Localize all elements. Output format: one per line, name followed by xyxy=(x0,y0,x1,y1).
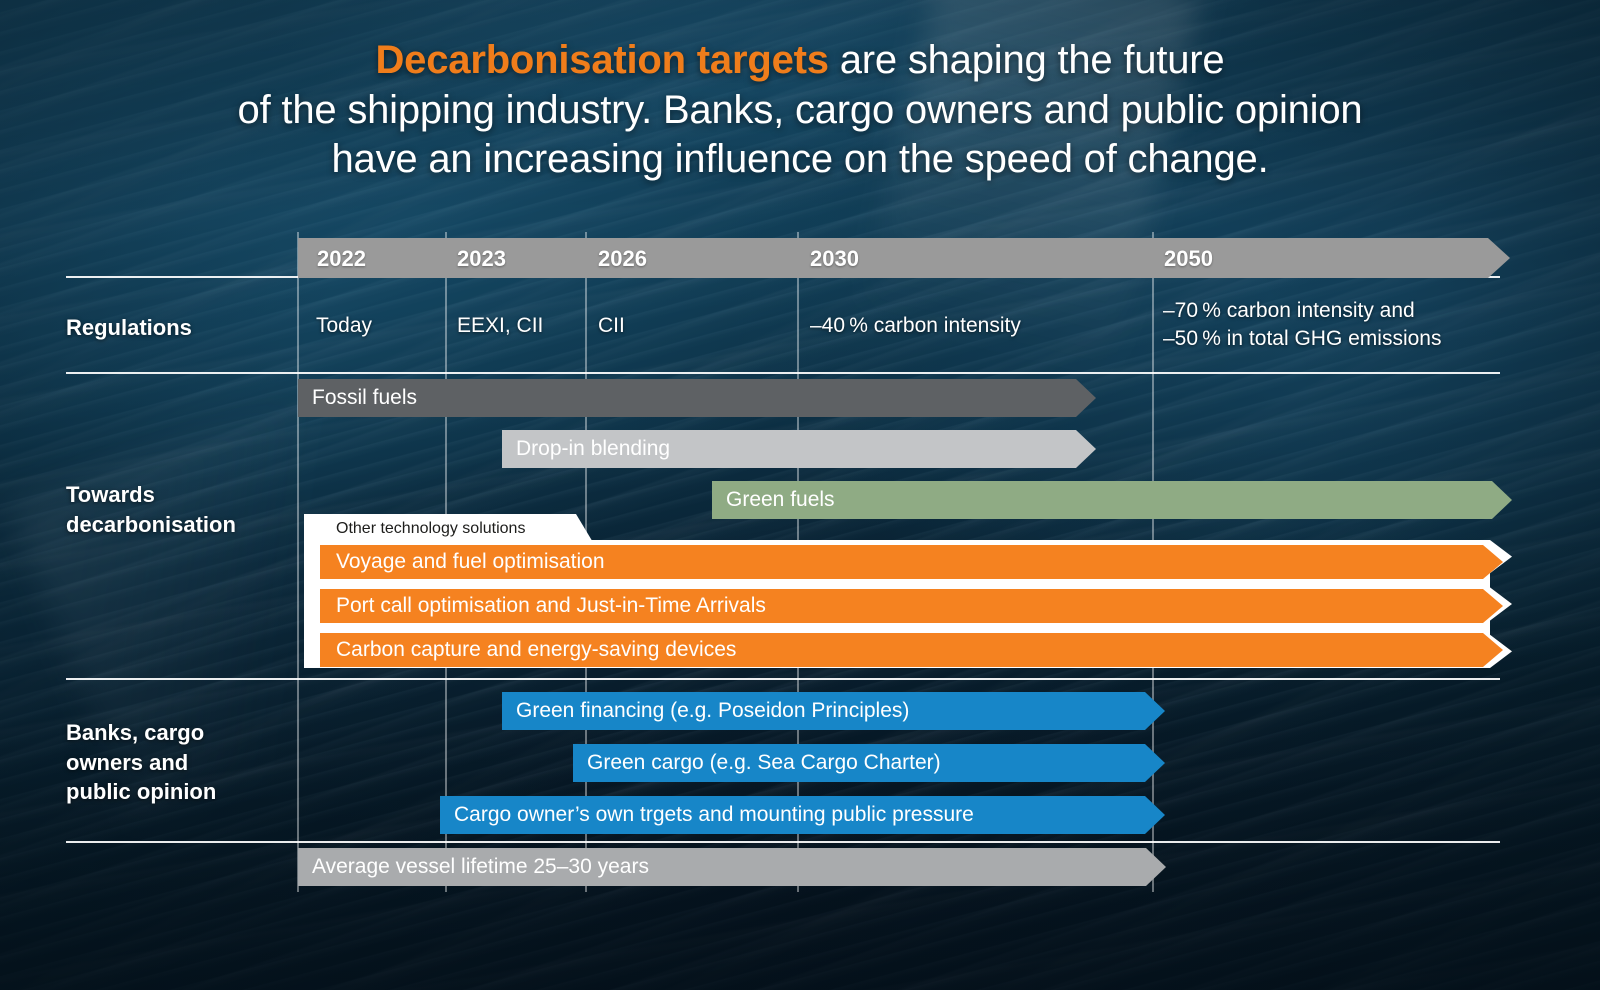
row-label-regulations: Regulations xyxy=(66,313,192,343)
year-label-2023: 2023 xyxy=(457,246,506,272)
regulation-cell-2023: EEXI, CII xyxy=(457,312,543,340)
bar-carbon-capture[interactable]: Carbon capture and energy-saving devices xyxy=(320,633,1503,667)
bar-port-call-optimisation[interactable]: Port call optimisation and Just-in-Time … xyxy=(320,589,1503,623)
gridline-2022 xyxy=(297,232,299,892)
regulation-cell-2026: CII xyxy=(598,312,625,340)
year-label-2026: 2026 xyxy=(598,246,647,272)
other-technology-solutions-tab: Other technology solutions xyxy=(304,514,594,544)
regulation-cell-2050: –70 % carbon intensity and –50 % in tota… xyxy=(1163,297,1442,354)
row-label-decarbonisation-line2: decarbonisation xyxy=(66,510,236,540)
decarbonisation-timeline-chart: 2022 2023 2026 2030 2050 Regulations Tow… xyxy=(0,0,1600,990)
year-label-2050: 2050 xyxy=(1164,246,1213,272)
bar-average-vessel-lifetime[interactable]: Average vessel lifetime 25–30 years xyxy=(298,848,1166,886)
row-label-decarbonisation: Towards decarbonisation xyxy=(66,480,236,539)
regulation-cell-2050-line1: –70 % carbon intensity and xyxy=(1163,297,1442,325)
year-label-2022: 2022 xyxy=(317,246,366,272)
separator-below-decarbonisation xyxy=(66,678,1500,680)
bar-voyage-and-fuel-optimisation[interactable]: Voyage and fuel optimisation xyxy=(320,545,1503,579)
bar-cargo-owner-targets[interactable]: Cargo owner’s own trgets and mounting pu… xyxy=(440,796,1165,834)
row-label-decarbonisation-line1: Towards xyxy=(66,480,236,510)
bar-green-cargo[interactable]: Green cargo (e.g. Sea Cargo Charter) xyxy=(573,744,1165,782)
regulation-cell-2030: –40 % carbon intensity xyxy=(810,312,1021,340)
row-label-stakeholders-line1: Banks, cargo xyxy=(66,718,216,748)
bar-green-financing[interactable]: Green financing (e.g. Poseidon Principle… xyxy=(502,692,1165,730)
other-technology-solutions-label: Other technology solutions xyxy=(304,520,525,538)
regulation-cell-2022: Today xyxy=(316,312,372,340)
bar-green-fuels[interactable]: Green fuels xyxy=(712,481,1512,519)
separator-below-stakeholders xyxy=(66,841,1500,843)
row-label-stakeholders-line3: public opinion xyxy=(66,777,216,807)
bar-fossil-fuels[interactable]: Fossil fuels xyxy=(298,379,1096,417)
row-label-stakeholders: Banks, cargo owners and public opinion xyxy=(66,718,216,807)
row-label-stakeholders-line2: owners and xyxy=(66,748,216,778)
separator-below-regulations xyxy=(66,372,1500,374)
bar-drop-in-blending[interactable]: Drop-in blending xyxy=(502,430,1096,468)
regulation-cell-2050-line2: –50 % in total GHG emissions xyxy=(1163,325,1442,353)
year-label-2030: 2030 xyxy=(810,246,859,272)
